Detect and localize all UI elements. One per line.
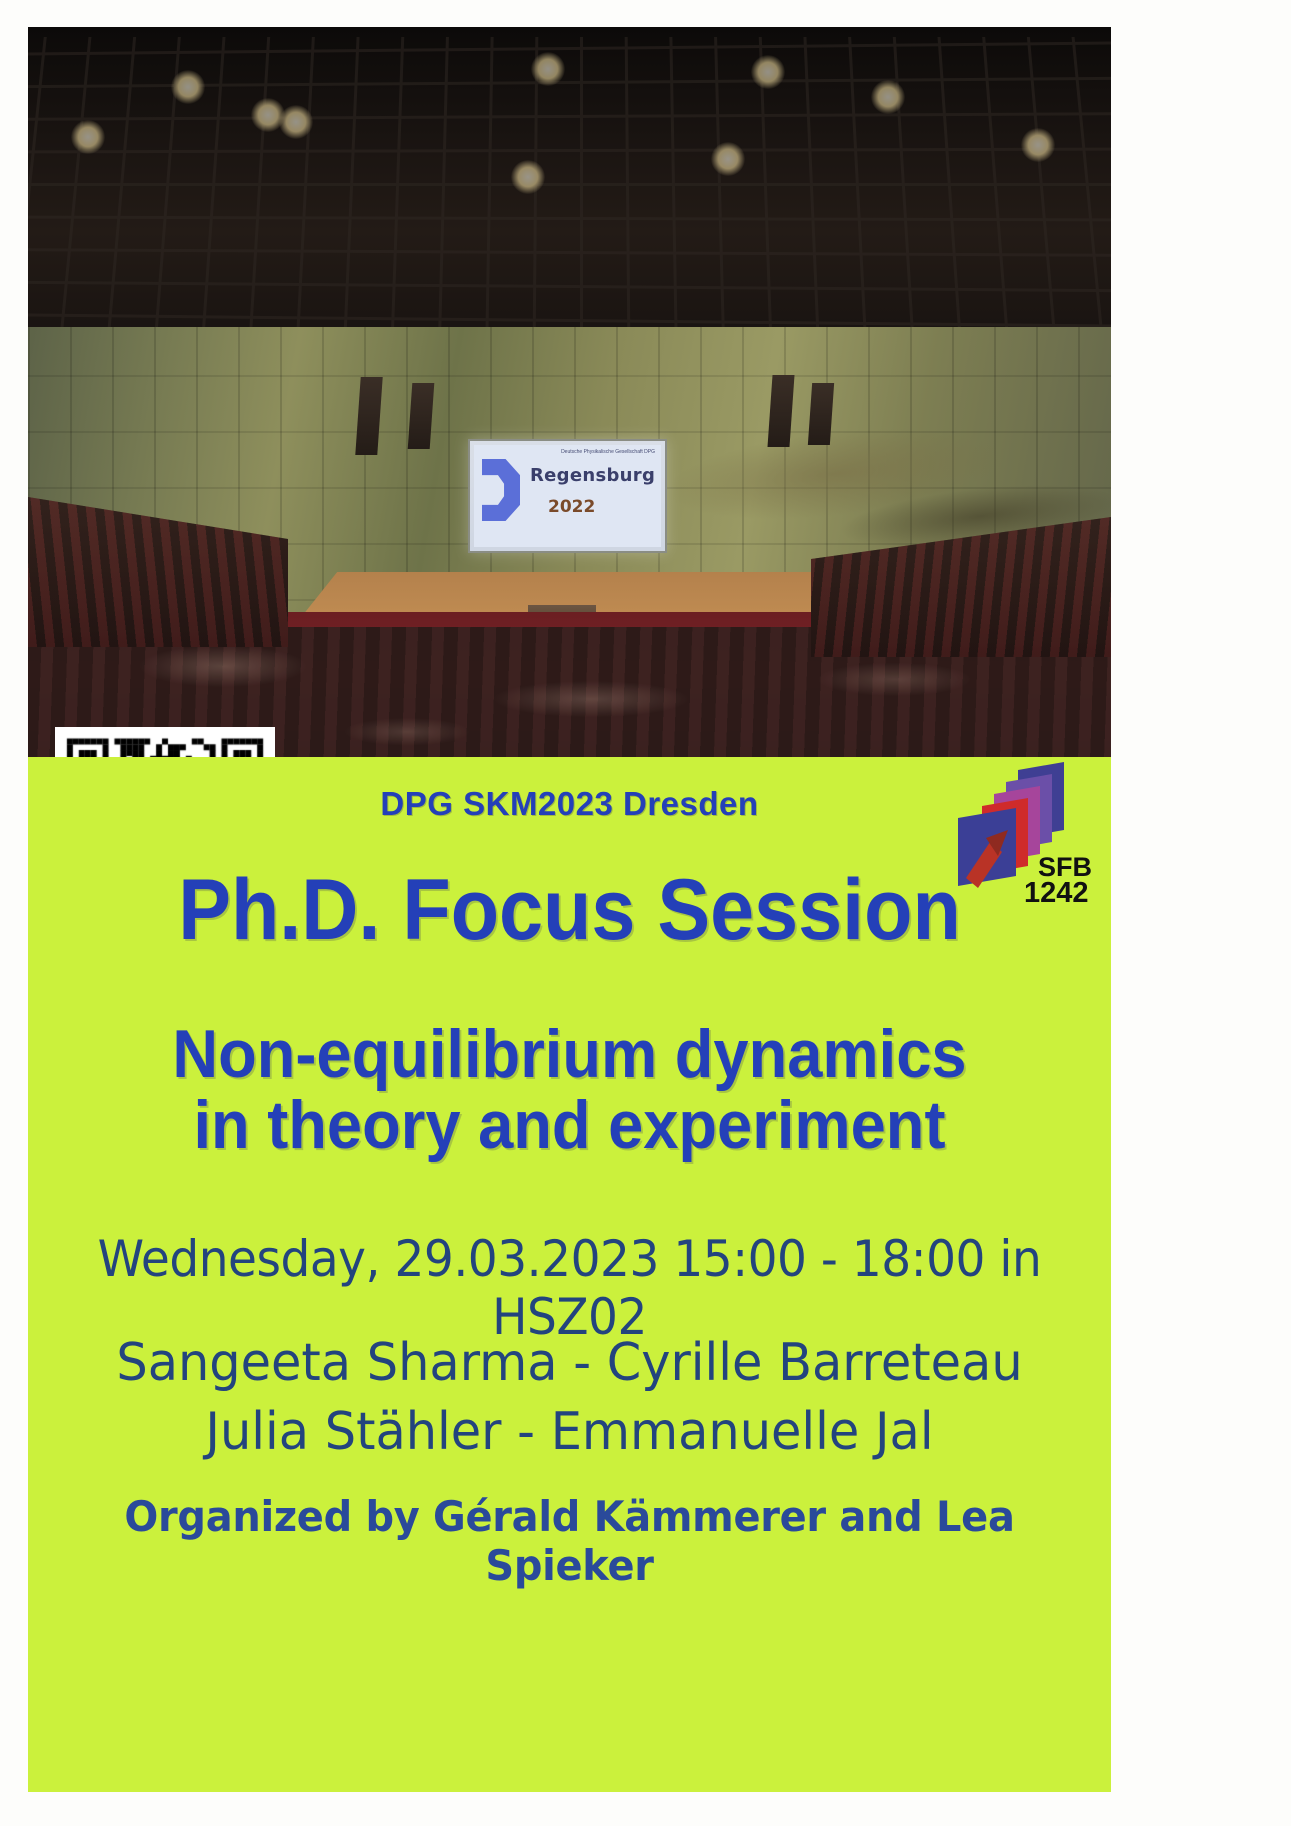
hanging-banner bbox=[808, 383, 834, 445]
slide-org-line: Deutsche Physikalische Gesellschaft DPG bbox=[561, 449, 655, 455]
organizers-line: Organized by Gérald Kämmerer and Lea Spi… bbox=[55, 1492, 1084, 1590]
poster-root: Deutsche Physikalische Gesellschaft DPG … bbox=[0, 0, 1291, 1826]
session-subtitle: Non-equilibrium dynamics in theory and e… bbox=[66, 1019, 1073, 1162]
speaker-line-2: Julia Stähler - Emmanuelle Jal bbox=[55, 1398, 1084, 1467]
speaker-list: Sangeeta Sharma - Cyrille Barreteau Juli… bbox=[55, 1329, 1084, 1466]
subtitle-line-2: in theory and experiment bbox=[66, 1090, 1073, 1161]
page-title: Ph.D. Focus Session bbox=[71, 867, 1067, 953]
dpg-logo-icon bbox=[482, 459, 520, 521]
slide-city: Regensburg bbox=[530, 465, 655, 486]
green-panel: DPG SKM2023 Dresden SFB 1242 Ph.D. Focus… bbox=[28, 757, 1111, 1792]
ceiling-truss bbox=[28, 27, 1111, 357]
hanging-banner bbox=[408, 383, 435, 449]
slide-year: 2022 bbox=[548, 497, 595, 517]
subtitle-line-1: Non-equilibrium dynamics bbox=[66, 1019, 1073, 1090]
projection-screen: Deutsche Physikalische Gesellschaft DPG … bbox=[468, 439, 667, 553]
slide: Deutsche Physikalische Gesellschaft DPG … bbox=[474, 445, 661, 547]
lecture-hall-photo: Deutsche Physikalische Gesellschaft DPG … bbox=[28, 27, 1111, 758]
speaker-line-1: Sangeeta Sharma - Cyrille Barreteau bbox=[55, 1329, 1084, 1398]
